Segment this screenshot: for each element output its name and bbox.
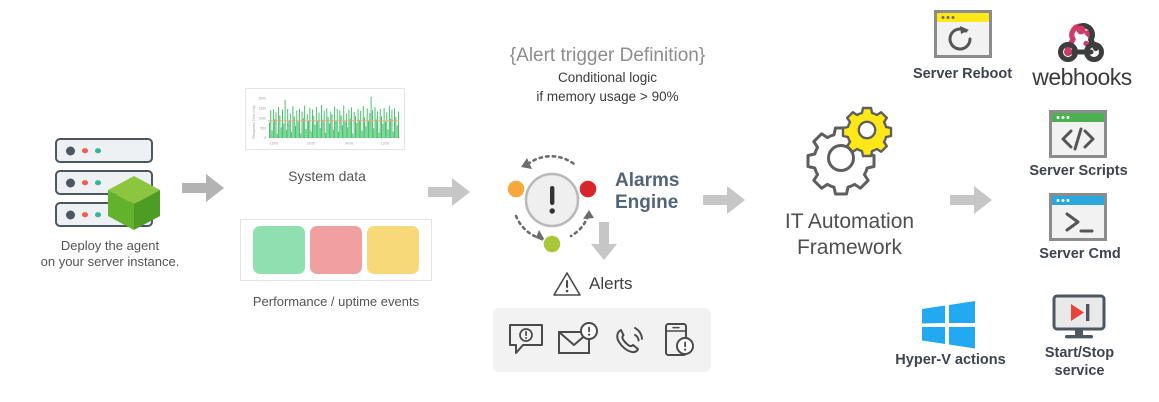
svg-text:1500: 1500 (258, 107, 266, 111)
server-led-main (66, 210, 75, 219)
gears-icon (803, 104, 895, 201)
window-code-icon[interactable] (1049, 110, 1107, 158)
svg-text:1000: 1000 (258, 117, 266, 121)
phone-ring-icon (611, 322, 649, 358)
it-automation-framework-label: IT Automation Framework (762, 209, 937, 261)
alert-definition-line1: Conditional logic (470, 68, 745, 87)
svg-text:04:00: 04:00 (345, 142, 353, 146)
start-stop-label-line2: service (1012, 362, 1147, 380)
svg-text:16:00: 16:00 (270, 142, 278, 146)
svg-text:2000: 2000 (258, 97, 266, 101)
server-led-red (82, 148, 88, 154)
performance-events-caption: Performance / uptime events (232, 294, 440, 310)
chat-alert-icon (507, 322, 545, 358)
hyper-v-icon[interactable] (920, 300, 978, 355)
start-stop-service-icon[interactable] (1051, 294, 1107, 349)
window-terminal-icon[interactable] (1049, 193, 1107, 241)
server-stack-icon (55, 138, 155, 230)
system-data-sparkline: Response Time (ms) 2000 1500 1000 500 0 … (249, 92, 403, 148)
svg-text:0: 0 (264, 136, 266, 140)
windows-logo-icon[interactable] (920, 300, 978, 350)
webhooks-label: webhooks (1026, 64, 1138, 91)
event-square-green (253, 226, 305, 274)
green-cube-icon (103, 172, 165, 239)
mobile-alert-icon (661, 321, 697, 359)
svg-text:Response Time (ms): Response Time (ms) (252, 105, 256, 138)
itaf-label-line1: IT Automation (762, 209, 937, 235)
server-led-main (66, 178, 75, 187)
event-square-red (310, 226, 362, 274)
alerts-label: Alerts (589, 274, 632, 294)
deploy-agent-group (55, 138, 155, 230)
notification-channels-box (493, 308, 711, 372)
status-dot-orange (507, 180, 525, 198)
hyper-v-label: Hyper-V actions (878, 351, 1023, 369)
server-led-red (82, 180, 88, 186)
server-led-main (66, 146, 75, 155)
system-data-caption: System data (232, 168, 422, 184)
alarms-engine-label-line2: Engine (615, 192, 679, 214)
arrow-engine-to-alerts (590, 222, 618, 262)
server-reboot-label: Server Reboot (885, 65, 1040, 83)
start-stop-label-line1: Start/Stop (1012, 344, 1147, 362)
arrow-deploy-to-data (182, 172, 226, 204)
deploy-agent-caption-line1: Deploy the agent (15, 238, 205, 254)
svg-text:13:00: 13:00 (381, 142, 389, 146)
start-stop-service-label: Start/Stop service (1012, 344, 1147, 380)
webhooks-logo-icon[interactable] (1057, 20, 1105, 69)
email-alert-icon (557, 322, 599, 358)
svg-text:20:00: 20:00 (307, 142, 315, 146)
monitor-play-icon[interactable] (1051, 294, 1107, 344)
alerts-group: Alerts (552, 270, 632, 297)
status-dot-red (579, 180, 597, 198)
alarms-engine-label: Alarms Engine (615, 170, 679, 214)
server-led-red (82, 212, 88, 218)
server-reboot-icon[interactable] (934, 10, 992, 63)
server-led-green (95, 212, 101, 218)
event-square-yellow (367, 226, 419, 274)
server-cmd-icon[interactable] (1049, 193, 1107, 246)
server-scripts-label: Server Scripts (1006, 162, 1151, 180)
alert-definition-line2: if memory usage > 90% (470, 87, 745, 106)
alert-trigger-definition: {Alert trigger Definition} Conditional l… (470, 44, 745, 106)
arrow-framework-to-actions (950, 184, 994, 216)
itaf-label-line2: Framework (762, 235, 937, 261)
system-data-chart-panel: Response Time (ms) 2000 1500 1000 500 0 … (245, 88, 405, 150)
server-led-green (95, 148, 101, 154)
arrow-engine-to-framework (703, 184, 747, 216)
performance-events-panel (240, 219, 432, 281)
warning-triangle-icon (552, 270, 582, 297)
alert-definition-title: {Alert trigger Definition} (470, 44, 745, 68)
server-cmd-label: Server Cmd (1010, 245, 1150, 263)
window-reboot-icon[interactable] (934, 10, 992, 58)
server-unit (55, 138, 153, 163)
status-dot-lime (543, 235, 561, 253)
alarms-engine-label-line1: Alarms (615, 170, 679, 192)
deploy-agent-caption-line2: on your server instance. (15, 254, 205, 270)
arrow-data-to-engine (428, 176, 472, 208)
deploy-agent-caption: Deploy the agent on your server instance… (15, 238, 205, 270)
server-led-green (95, 180, 101, 186)
svg-text:500: 500 (260, 127, 266, 131)
server-scripts-icon[interactable] (1049, 110, 1107, 163)
